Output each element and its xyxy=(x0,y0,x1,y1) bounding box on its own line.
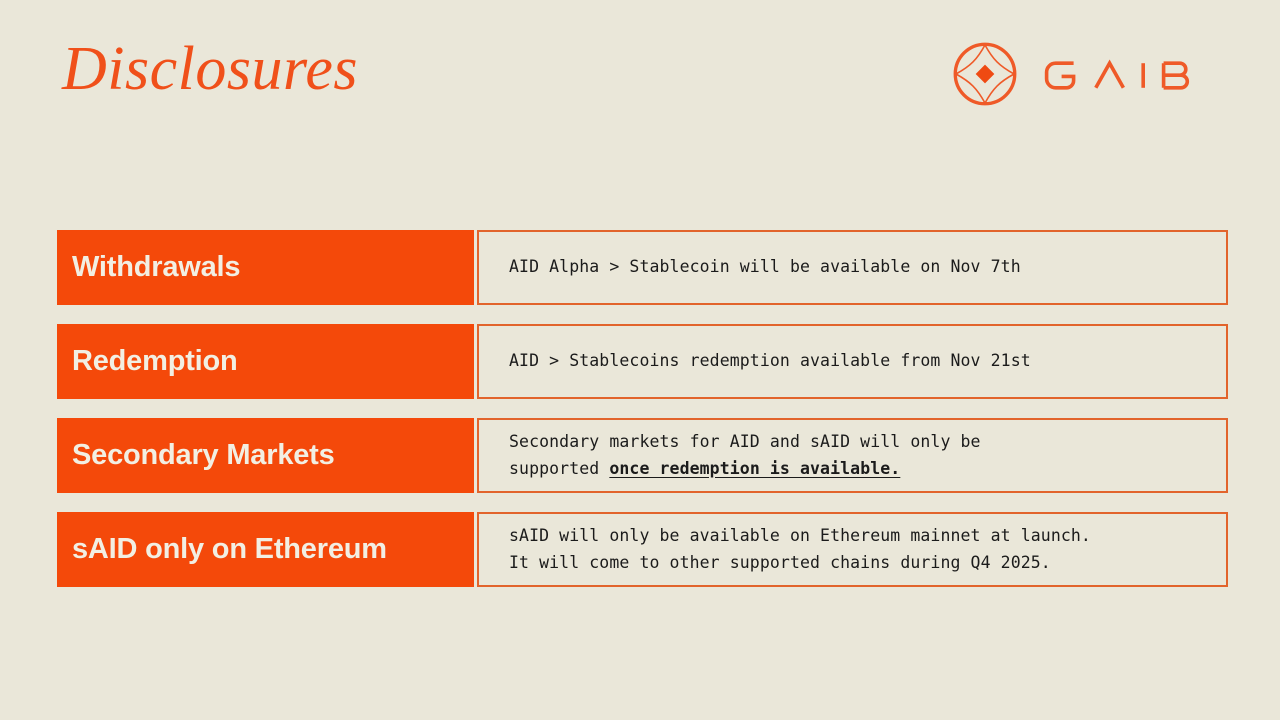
disclosure-text: sAID will only be available on Ethereum … xyxy=(509,523,1091,576)
disclosure-text-main: AID > Stablecoins redemption available f… xyxy=(509,351,1031,370)
brand-lockup xyxy=(952,41,1220,107)
disclosure-row: Withdrawals AID Alpha > Stablecoin will … xyxy=(57,230,1228,305)
gaib-lotus-circle-icon xyxy=(952,41,1018,107)
disclosure-text: AID Alpha > Stablecoin will be available… xyxy=(509,254,1021,281)
disclosure-label-cell: Redemption xyxy=(57,324,474,399)
disclosure-label: Redemption xyxy=(72,346,238,376)
disclosure-label-cell: sAID only on Ethereum xyxy=(57,512,474,587)
disclosure-text-main: AID Alpha > Stablecoin will be available… xyxy=(509,257,1021,276)
disclosure-text: AID > Stablecoins redemption available f… xyxy=(509,348,1031,375)
disclosure-label-cell: Secondary Markets xyxy=(57,418,474,493)
slide-header: Disclosures xyxy=(0,0,1280,150)
disclosure-text-main: sAID will only be available on Ethereum … xyxy=(509,526,1091,572)
disclosure-label: sAID only on Ethereum xyxy=(72,534,387,564)
page-title: Disclosures xyxy=(62,38,358,100)
disclosures-list: Withdrawals AID Alpha > Stablecoin will … xyxy=(57,230,1228,587)
disclosure-text-emphasis: once redemption is available. xyxy=(609,459,900,478)
disclosure-row: sAID only on Ethereum sAID will only be … xyxy=(57,512,1228,587)
disclosure-body-cell: sAID will only be available on Ethereum … xyxy=(477,512,1228,587)
disclosure-text: Secondary markets for AID and sAID will … xyxy=(509,429,981,482)
disclosure-label: Secondary Markets xyxy=(72,440,335,470)
disclosure-label-cell: Withdrawals xyxy=(57,230,474,305)
disclosure-body-cell: AID Alpha > Stablecoin will be available… xyxy=(477,230,1228,305)
disclosure-row: Secondary Markets Secondary markets for … xyxy=(57,418,1228,493)
gaib-wordmark xyxy=(1040,53,1220,95)
disclosure-body-cell: AID > Stablecoins redemption available f… xyxy=(477,324,1228,399)
disclosure-row: Redemption AID > Stablecoins redemption … xyxy=(57,324,1228,399)
disclosure-label: Withdrawals xyxy=(72,252,240,282)
disclosure-body-cell: Secondary markets for AID and sAID will … xyxy=(477,418,1228,493)
